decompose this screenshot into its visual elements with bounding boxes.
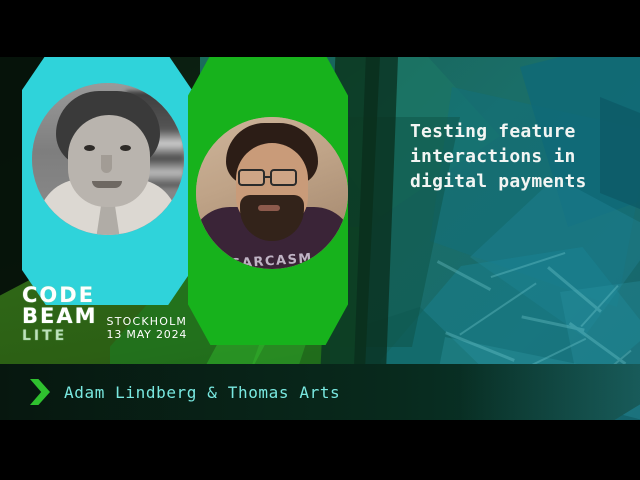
portrait-eye-right [120, 145, 131, 151]
logo-line-code: CODE [22, 285, 98, 306]
letterbox-bottom [0, 420, 640, 480]
logo-wordmark: CODE BEAM LITE [22, 285, 98, 343]
event-date: 13 MAY 2024 [107, 328, 188, 341]
speaker-portrait-2: SARCASM [196, 117, 348, 269]
video-frame: SARCASM Testing feature interactions in … [0, 57, 640, 420]
speaker-name-bar: Adam Lindberg & Thomas Arts [0, 364, 640, 420]
event-city: STOCKHOLM [107, 315, 188, 328]
talk-title: Testing feature interactions in digital … [410, 119, 628, 194]
chevron-right-icon [30, 379, 50, 405]
logo-line-beam: BEAM [22, 306, 98, 327]
portrait-shirt-text: SARCASM [196, 248, 348, 269]
letterbox-top [0, 0, 640, 57]
portrait-glasses-bridge [265, 176, 270, 178]
portrait-nose [101, 155, 112, 173]
portrait-eye-left [84, 145, 95, 151]
speaker-names: Adam Lindberg & Thomas Arts [64, 383, 340, 402]
speaker-panel-1 [22, 57, 192, 305]
portrait-glasses-left [238, 169, 265, 186]
portrait-mouth [258, 205, 280, 211]
portrait-glasses-right [270, 169, 297, 186]
talk-title-line-3: digital payments [410, 169, 628, 194]
talk-title-line-2: interactions in [410, 144, 628, 169]
speaker-portrait-1 [32, 83, 184, 235]
name-bar-content: Adam Lindberg & Thomas Arts [0, 364, 340, 420]
conference-logo: CODE BEAM LITE STOCKHOLM 13 MAY 2024 [22, 285, 187, 343]
logo-line-lite: LITE [22, 329, 98, 343]
speaker-panel-2: SARCASM [188, 57, 348, 345]
name-bar-sheen [460, 364, 640, 420]
event-info: STOCKHOLM 13 MAY 2024 [107, 315, 188, 343]
video-thumbnail: SARCASM Testing feature interactions in … [0, 0, 640, 480]
talk-title-line-1: Testing feature [410, 119, 628, 144]
portrait-mouth [92, 181, 122, 188]
